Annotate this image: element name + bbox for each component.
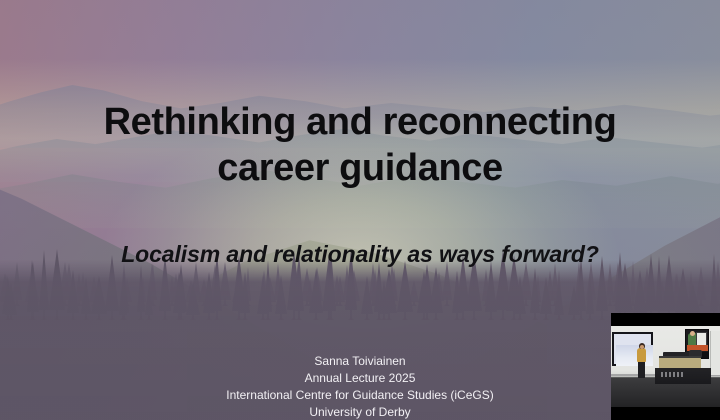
speaker-face [640,345,644,349]
byline-institution: University of Derby [60,404,660,420]
slide-title-line-2: career guidance [50,146,670,192]
presentation-slide: Rethinking and reconnecting career guida… [0,0,720,420]
slide-title: Rethinking and reconnecting career guida… [50,100,670,191]
speaker-torso [637,348,646,362]
byline-organisation: International Centre for Guidance Studie… [60,387,660,404]
camera-letterbox-bottom [611,407,720,420]
camera-letterbox-top [611,313,720,326]
speaker-legs [638,361,645,378]
camera-scene [611,326,720,407]
projection-screen-image [616,345,653,366]
podium-logo [661,372,683,377]
room-door [710,331,720,375]
byline-presenter: Sanna Toiviainen [60,353,660,370]
poster-figure-head [690,331,695,336]
presenter-camera-feed[interactable] [611,313,720,420]
projection-screen [612,332,653,366]
slide-byline: Sanna Toiviainen Annual Lecture 2025 Int… [60,353,660,420]
poster-whiteboard [696,332,707,346]
byline-event: Annual Lecture 2025 [60,370,660,387]
slide-subtitle: Localism and relationality as ways forwa… [50,241,670,268]
slide-title-line-1: Rethinking and reconnecting [50,100,670,146]
